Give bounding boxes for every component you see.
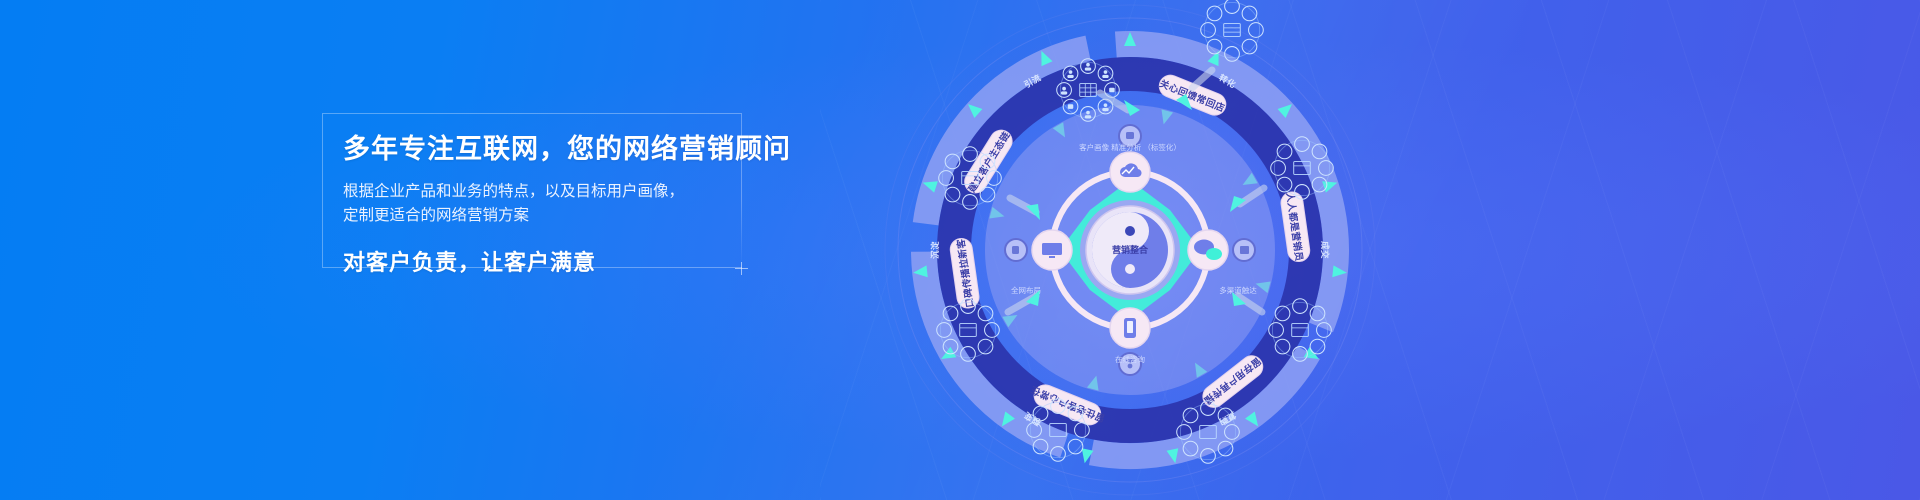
hub-label-bottom: 在线咨询 <box>1115 354 1145 364</box>
copy-frame: 多年专注互联网，您的网络营销顾问 根据企业产品和业务的特点，以及目标用户画像， … <box>322 113 742 268</box>
marketing-wheel-diagram: 建立客户生态链 关心回馈常回店 人人都是营销员 留存用户再传播 <box>840 0 1420 500</box>
center-hub[interactable]: 营销整合 <box>1086 206 1174 294</box>
outer-label-3: 成交 <box>1320 241 1330 259</box>
hub-label-top: 客户画像 精准分析 （标签化） <box>1079 142 1181 152</box>
hub-node-bottom[interactable] <box>1110 308 1150 348</box>
hero-banner: 多年专注互联网，您的网络营销顾问 根据企业产品和业务的特点，以及目标用户画像， … <box>0 0 1920 500</box>
hub-node-right[interactable] <box>1188 230 1228 270</box>
hub-node-left[interactable] <box>1032 230 1072 270</box>
center-label: 营销整合 <box>1112 244 1149 255</box>
hub-node-top[interactable] <box>1110 152 1150 192</box>
plus-marker-icon <box>735 262 748 275</box>
outer-label-6: 沉淀 <box>930 241 940 259</box>
mobile-icon <box>1124 318 1136 338</box>
